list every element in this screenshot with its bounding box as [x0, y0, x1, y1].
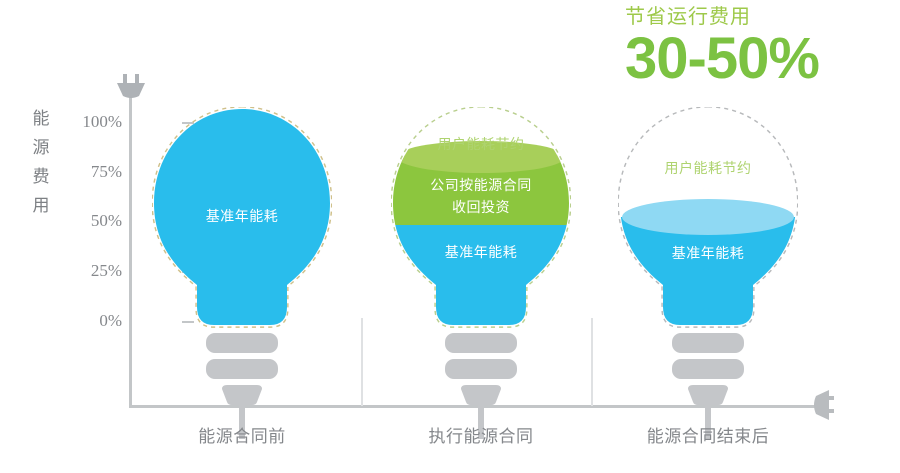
headline-value: 30-50%	[625, 30, 819, 88]
bulb-during-contract-shape	[391, 107, 571, 329]
y-tick-label-100: 100%	[60, 112, 122, 132]
y-axis-title-char-2: 费	[28, 162, 54, 191]
bulb-after-contract: 用户能耗节约 基准年能耗	[618, 107, 798, 329]
base-ring-2a	[445, 333, 517, 353]
category-label-3: 能源合同结束后	[588, 422, 828, 447]
plug-icon	[115, 74, 147, 100]
y-tick-label-75: 75%	[60, 162, 122, 182]
bulb-base-2	[445, 333, 517, 405]
bulb-during-contract: 用户能耗节约 公司按能源合同 收回投资 基准年能耗	[391, 107, 571, 329]
y-axis-title-char-0: 能	[28, 104, 54, 133]
base-tip-3	[686, 385, 730, 405]
y-axis-title: 能 源 费 用	[28, 104, 54, 220]
base-ring-2b	[445, 359, 517, 379]
bulb-before-contract-shape	[152, 107, 332, 329]
category-label-1: 能源合同前	[122, 422, 362, 447]
y-axis-line	[129, 96, 132, 408]
headline-block: 节省运行费用 30-50%	[625, 4, 819, 88]
category-separator-1	[361, 318, 363, 406]
bulb-before-contract: 基准年能耗	[152, 107, 332, 329]
base-ring-3b	[672, 359, 744, 379]
base-tip-1	[220, 385, 264, 405]
category-separator-2	[591, 318, 593, 406]
bulb-base-3	[672, 333, 744, 405]
base-ring-1a	[206, 333, 278, 353]
base-tip-2	[459, 385, 503, 405]
plug-icon-end	[806, 388, 834, 422]
y-axis-title-char-3: 用	[28, 191, 54, 220]
y-axis-title-char-1: 源	[28, 133, 54, 162]
infographic-canvas: 节省运行费用 30-50% 能 源 费 用 100% 75% 50% 25% 0…	[0, 0, 900, 473]
bulb-base-1	[206, 333, 278, 405]
base-ring-3a	[672, 333, 744, 353]
bulb-after-contract-shape	[618, 107, 798, 329]
x-axis-line	[129, 405, 819, 408]
y-tick-label-50: 50%	[60, 211, 122, 231]
category-label-2: 执行能源合同	[361, 422, 601, 447]
y-tick-label-0: 0%	[60, 311, 122, 331]
y-tick-label-25: 25%	[60, 261, 122, 281]
base-ring-1b	[206, 359, 278, 379]
